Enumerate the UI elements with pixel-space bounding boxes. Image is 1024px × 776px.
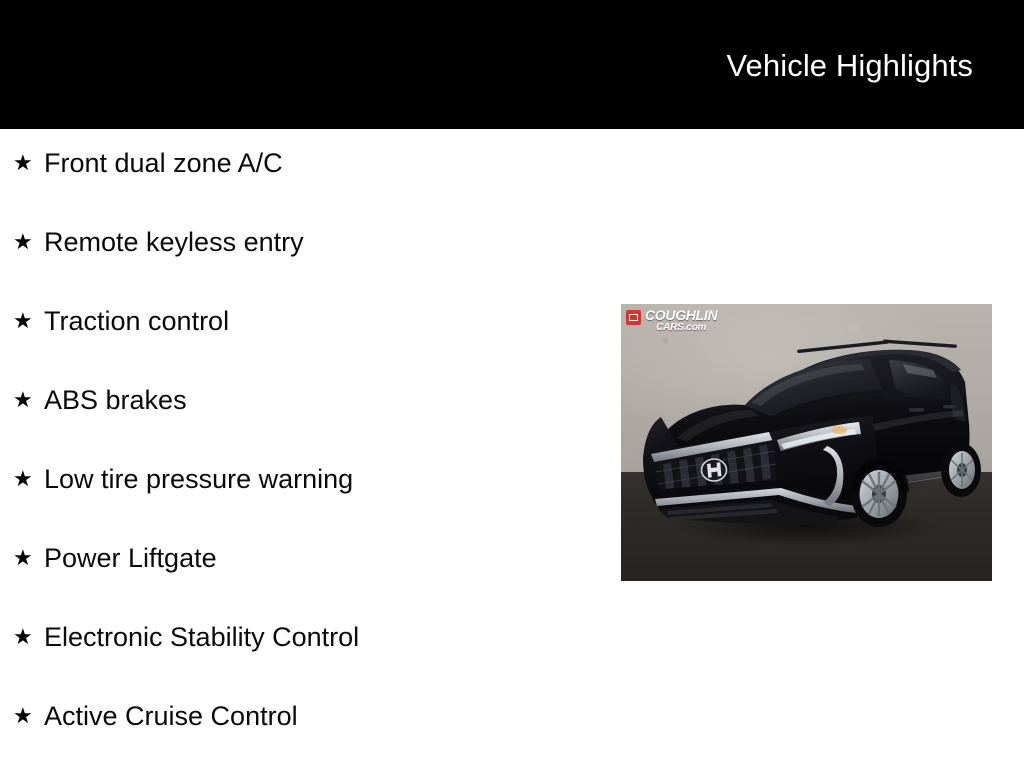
star-icon: ★ — [13, 618, 39, 656]
list-item: ★ Remote keyless entry — [0, 223, 600, 302]
list-item-label: Low tire pressure warning — [39, 460, 353, 498]
page-title: Vehicle Highlights — [726, 47, 973, 85]
list-item: ★ Traction control — [0, 302, 600, 381]
star-icon: ★ — [13, 460, 39, 498]
dealer-watermark: COUGHLIN CARS.com — [626, 308, 717, 333]
suv-illustration — [621, 304, 992, 581]
list-item-label: Electronic Stability Control — [39, 618, 359, 656]
star-icon: ★ — [13, 539, 39, 577]
star-icon: ★ — [13, 144, 39, 182]
watermark-text: COUGHLIN CARS.com — [645, 308, 717, 333]
list-item-label: Front dual zone A/C — [39, 144, 283, 182]
list-item: ★ Active Cruise Control — [0, 697, 600, 776]
star-icon: ★ — [13, 223, 39, 261]
list-item: ★ Low tire pressure warning — [0, 460, 600, 539]
vehicle-highlights-list: ★ Front dual zone A/C ★ Remote keyless e… — [0, 144, 600, 776]
star-icon: ★ — [13, 697, 39, 735]
list-item-label: Active Cruise Control — [39, 697, 298, 735]
list-item-label: ABS brakes — [39, 381, 187, 419]
list-item-label: Remote keyless entry — [39, 223, 304, 261]
coughlin-logo-icon — [626, 310, 641, 325]
star-icon: ★ — [13, 381, 39, 419]
list-item: ★ Front dual zone A/C — [0, 144, 600, 223]
vehicle-photo[interactable]: COUGHLIN CARS.com — [621, 304, 992, 581]
list-item: ★ Electronic Stability Control — [0, 618, 600, 697]
list-item: ★ ABS brakes — [0, 381, 600, 460]
watermark-line-1: COUGHLIN — [645, 308, 717, 322]
header-bar: Vehicle Highlights — [0, 0, 1024, 129]
star-icon: ★ — [13, 302, 39, 340]
list-item-label: Power Liftgate — [39, 539, 217, 577]
watermark-line-2: CARS.com — [645, 323, 717, 333]
list-item-label: Traction control — [39, 302, 229, 340]
list-item: ★ Power Liftgate — [0, 539, 600, 618]
